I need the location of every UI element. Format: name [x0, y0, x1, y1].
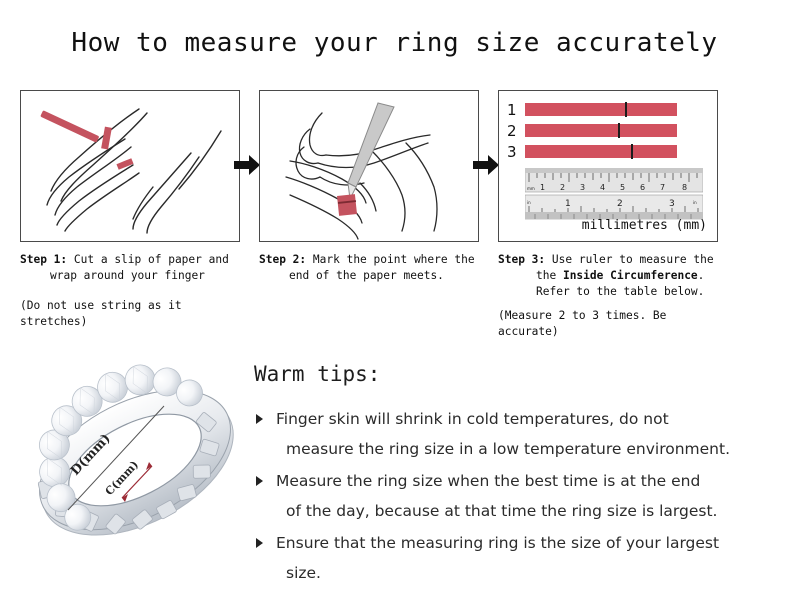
tip-line-2: of the day, because at that time the rin…: [276, 496, 774, 526]
triangle-bullet-icon: [256, 414, 263, 424]
svg-text:8: 8: [682, 183, 687, 192]
strip-mark: [625, 102, 627, 117]
step-3-line-2: the Inside Circumference.: [498, 268, 720, 284]
right-arrow-icon: [232, 150, 262, 180]
step-1-line-2: wrap around your finger: [20, 268, 242, 284]
step-2-caption: Step 2: Mark the point where the end of …: [259, 252, 481, 284]
ruler-icon: mm 12 34 56 78 in 12 3in: [525, 168, 703, 220]
strip-mark: [618, 123, 620, 138]
ring-with-dimensions-icon: D(mm) C(mm): [18, 348, 253, 573]
step-1-line-1: Cut a slip of paper and: [74, 253, 229, 266]
strip-bar: [525, 124, 677, 137]
strip-bar: [525, 145, 677, 158]
step-3-note: (Measure 2 to 3 times. Be accurate): [498, 308, 720, 340]
step-2-line-1: Mark the point where the: [313, 253, 475, 266]
arrow-step2-to-step3: [471, 150, 501, 180]
measured-strips-group: 1 2 3: [507, 101, 677, 164]
svg-text:1: 1: [565, 199, 571, 209]
hand-marking-paper-with-pen-icon: [260, 91, 478, 241]
paper-strip-marked: [337, 194, 357, 216]
strip-bar: [525, 103, 677, 116]
svg-text:in: in: [527, 200, 531, 205]
right-arrow-icon: [471, 150, 501, 180]
svg-text:5: 5: [620, 183, 625, 192]
tip-line-2: measure the ring size in a low temperatu…: [276, 434, 774, 464]
svg-text:in: in: [693, 200, 697, 205]
tip-line-1: Finger skin will shrink in cold temperat…: [276, 404, 774, 434]
ruler-graphic: mm 12 34 56 78 in 12 3in: [525, 168, 703, 220]
step-3-line-3: Refer to the table below.: [498, 284, 720, 300]
warm-tips-heading: Warm tips:: [254, 362, 774, 386]
tip-item: Finger skin will shrink in cold temperat…: [254, 404, 774, 464]
strip-row: 1: [507, 101, 677, 118]
svg-text:4: 4: [600, 183, 605, 192]
step-3-line-1: Use ruler to measure the: [552, 253, 714, 266]
svg-text:2: 2: [617, 199, 623, 209]
step-3-line-2-text: the: [536, 269, 563, 282]
step-column-1: Step 1: Cut a slip of paper and wrap aro…: [20, 90, 242, 330]
step-1-caption: Step 1: Cut a slip of paper and wrap aro…: [20, 252, 242, 284]
inside-circumference-emphasis: Inside Circumference: [563, 269, 698, 282]
step-3-label: Step 3:: [498, 253, 545, 266]
tip-line-1: Ensure that the measuring ring is the si…: [276, 528, 774, 558]
ruler-unit-caption: millimetres (mm): [582, 218, 707, 233]
step-column-2: Step 2: Mark the point where the end of …: [259, 90, 481, 298]
tip-line-1: Measure the ring size when the best time…: [276, 466, 774, 496]
triangle-bullet-icon: [256, 538, 263, 548]
strip-number: 2: [507, 122, 525, 140]
strip-row: 3: [507, 143, 677, 160]
step-3-line-2-period: .: [698, 269, 705, 282]
step-2-line-2: end of the paper meets.: [259, 268, 481, 284]
ring-diagram: D(mm) C(mm): [18, 348, 253, 573]
triangle-bullet-icon: [256, 476, 263, 486]
tip-item: Ensure that the measuring ring is the si…: [254, 528, 774, 588]
svg-text:7: 7: [660, 183, 665, 192]
step-2-label: Step 2:: [259, 253, 306, 266]
steps-row: Step 1: Cut a slip of paper and wrap aro…: [0, 90, 789, 340]
svg-text:6: 6: [640, 183, 645, 192]
svg-text:2: 2: [560, 183, 565, 192]
strip-mark: [631, 144, 633, 159]
arrow-step1-to-step2: [232, 150, 262, 180]
page-title: How to measure your ring size accurately: [0, 28, 789, 58]
tip-item: Measure the ring size when the best time…: [254, 466, 774, 526]
hand-with-paper-strip-icon: [21, 91, 239, 241]
svg-text:3: 3: [580, 183, 585, 192]
step-3-illustration-panel: 1 2 3: [498, 90, 718, 242]
svg-text:mm: mm: [527, 186, 535, 191]
paper-strip-loose: [40, 110, 99, 143]
step-1-label: Step 1:: [20, 253, 67, 266]
step-3-caption: Step 3: Use ruler to measure the the Ins…: [498, 252, 720, 300]
step-2-illustration-panel: [259, 90, 479, 242]
step-column-3: 1 2 3: [498, 90, 720, 340]
svg-text:3: 3: [669, 199, 675, 209]
svg-text:1: 1: [540, 183, 545, 192]
pen-icon: [348, 103, 394, 199]
warm-tips-section: Warm tips: Finger skin will shrink in co…: [254, 362, 774, 590]
step-1-illustration-panel: [20, 90, 240, 242]
strip-row: 2: [507, 122, 677, 139]
strip-number: 3: [507, 143, 525, 161]
step-1-note: (Do not use string as it stretches): [20, 298, 242, 330]
tip-line-2: size.: [276, 558, 774, 588]
strip-number: 1: [507, 101, 525, 119]
